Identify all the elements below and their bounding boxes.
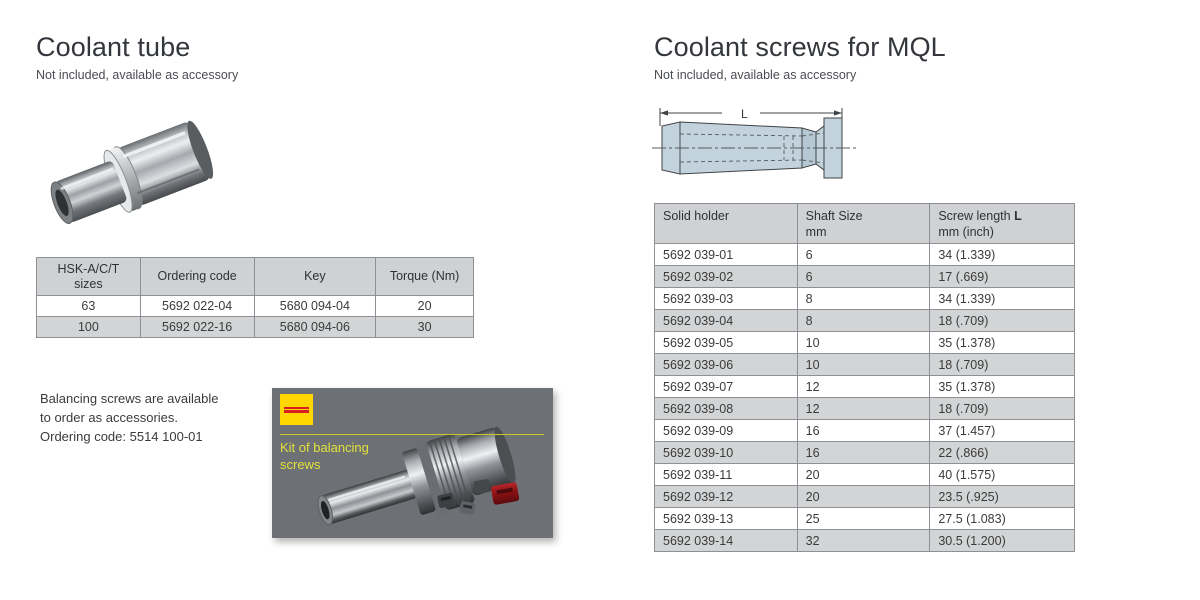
cell-shaft-size: 6 — [797, 266, 930, 288]
promo-caption: Kit of balancing screws — [280, 439, 460, 473]
cell-shaft-size: 32 — [797, 530, 930, 552]
table-row: 5692 039-081218 (.709) — [655, 398, 1075, 420]
cell-solid-holder: 5692 039-10 — [655, 442, 798, 464]
cell-solid-holder: 5692 039-05 — [655, 332, 798, 354]
screw-length-label: Screw length — [938, 209, 1014, 223]
cell-torque: 30 — [376, 317, 474, 338]
col-header-ordering-code: Ordering code — [140, 258, 254, 296]
coolant-screws-subtitle: Not included, available as accessory — [654, 68, 856, 82]
cell-key: 5680 094-04 — [254, 296, 376, 317]
cell-torque: 20 — [376, 296, 474, 317]
table-row: 5692 039-112040 (1.575) — [655, 464, 1075, 486]
cell-shaft-size: 8 — [797, 288, 930, 310]
col-header-solid-holder: Solid holder — [655, 204, 798, 244]
cell-key: 5680 094-06 — [254, 317, 376, 338]
cell-shaft-size: 16 — [797, 442, 930, 464]
coolant-tube-render — [32, 108, 238, 248]
cell-ordering-code: 5692 022-16 — [140, 317, 254, 338]
col-header-hsk-sizes: HSK-A/C/T sizes — [37, 258, 141, 296]
cell-shaft-size: 8 — [797, 310, 930, 332]
cell-screw-length: 34 (1.339) — [930, 244, 1075, 266]
table-row: 63 5692 022-04 5680 094-04 20 — [37, 296, 474, 317]
cell-solid-holder: 5692 039-12 — [655, 486, 798, 508]
cell-solid-holder: 5692 039-01 — [655, 244, 798, 266]
col-header-torque: Torque (Nm) — [376, 258, 474, 296]
coolant-screws-title: Coolant screws for MQL — [654, 32, 946, 63]
cell-screw-length: 18 (.709) — [930, 398, 1075, 420]
cell-solid-holder: 5692 039-06 — [655, 354, 798, 376]
cell-screw-length: 17 (.669) — [930, 266, 1075, 288]
table-row: 5692 039-071235 (1.378) — [655, 376, 1075, 398]
cell-screw-length: 18 (.709) — [930, 310, 1075, 332]
cell-shaft-size: 12 — [797, 398, 930, 420]
table-header-row: HSK-A/C/T sizes Ordering code Key Torque… — [37, 258, 474, 296]
cell-screw-length: 22 (.866) — [930, 442, 1075, 464]
cell-solid-holder: 5692 039-03 — [655, 288, 798, 310]
cell-solid-holder: 5692 039-08 — [655, 398, 798, 420]
note-line-3: Ordering code: 5514 100-01 — [40, 427, 262, 446]
promo-caption-line-1: Kit of balancing — [280, 439, 460, 456]
coolant-screws-table: Solid holder Shaft Size mm Screw length … — [654, 203, 1075, 552]
cell-solid-holder: 5692 039-07 — [655, 376, 798, 398]
cell-screw-length: 37 (1.457) — [930, 420, 1075, 442]
cell-shaft-size: 16 — [797, 420, 930, 442]
table-row: 5692 039-03834 (1.339) — [655, 288, 1075, 310]
table-header-row: Solid holder Shaft Size mm Screw length … — [655, 204, 1075, 244]
balancing-screws-note: Balancing screws are available to order … — [40, 389, 262, 446]
cell-screw-length: 23.5 (.925) — [930, 486, 1075, 508]
col-header-shaft-size: Shaft Size mm — [797, 204, 930, 244]
cell-ordering-code: 5692 022-04 — [140, 296, 254, 317]
logo-bar — [284, 407, 309, 413]
screw-table-body: 5692 039-01634 (1.339)5692 039-02617 (.6… — [655, 244, 1075, 552]
table-row: 5692 039-132527.5 (1.083) — [655, 508, 1075, 530]
table-row: 5692 039-051035 (1.378) — [655, 332, 1075, 354]
cell-shaft-size: 10 — [797, 332, 930, 354]
sandvik-coromant-logo — [280, 394, 313, 425]
col-header-screw-length: Screw length L mm (inch) — [930, 204, 1075, 244]
coolant-tube-table: HSK-A/C/T sizes Ordering code Key Torque… — [36, 257, 474, 338]
document-page: Coolant tube Not included, available as … — [0, 0, 1200, 600]
cell-solid-holder: 5692 039-13 — [655, 508, 798, 530]
balancing-screws-promo-card[interactable]: Kit of balancing screws — [272, 388, 553, 538]
cell-solid-holder: 5692 039-14 — [655, 530, 798, 552]
cell-screw-length: 27.5 (1.083) — [930, 508, 1075, 530]
table-row: 100 5692 022-16 5680 094-06 30 — [37, 317, 474, 338]
table-row: 5692 039-061018 (.709) — [655, 354, 1075, 376]
promo-divider — [280, 434, 544, 435]
table-row: 5692 039-143230.5 (1.200) — [655, 530, 1075, 552]
dimension-label-L: L — [741, 107, 748, 121]
cell-shaft-size: 20 — [797, 464, 930, 486]
table-row: 5692 039-122023.5 (.925) — [655, 486, 1075, 508]
cell-screw-length: 18 (.709) — [930, 354, 1075, 376]
cell-shaft-size: 12 — [797, 376, 930, 398]
cell-solid-holder: 5692 039-09 — [655, 420, 798, 442]
table-row: 5692 039-04818 (.709) — [655, 310, 1075, 332]
coolant-tube-title: Coolant tube — [36, 32, 190, 63]
cell-shaft-size: 20 — [797, 486, 930, 508]
screw-length-symbol: L — [1014, 209, 1022, 223]
cell-screw-length: 35 (1.378) — [930, 376, 1075, 398]
table-row: 5692 039-091637 (1.457) — [655, 420, 1075, 442]
cell-screw-length: 40 (1.575) — [930, 464, 1075, 486]
cell-screw-length: 34 (1.339) — [930, 288, 1075, 310]
coolant-tube-subtitle: Not included, available as accessory — [36, 68, 238, 82]
cell-shaft-size: 10 — [797, 354, 930, 376]
table-row: 5692 039-101622 (.866) — [655, 442, 1075, 464]
cell-hsk-size: 100 — [37, 317, 141, 338]
note-line-2: to order as accessories. — [40, 408, 262, 427]
cell-screw-length: 30.5 (1.200) — [930, 530, 1075, 552]
table-row: 5692 039-02617 (.669) — [655, 266, 1075, 288]
cell-hsk-size: 63 — [37, 296, 141, 317]
cell-shaft-size: 25 — [797, 508, 930, 530]
promo-caption-line-2: screws — [280, 456, 460, 473]
coolant-screw-drawing: L — [652, 100, 888, 196]
col-header-key: Key — [254, 258, 376, 296]
cell-solid-holder: 5692 039-02 — [655, 266, 798, 288]
cell-screw-length: 35 (1.378) — [930, 332, 1075, 354]
table-row: 5692 039-01634 (1.339) — [655, 244, 1075, 266]
cell-shaft-size: 6 — [797, 244, 930, 266]
cell-solid-holder: 5692 039-11 — [655, 464, 798, 486]
cell-solid-holder: 5692 039-04 — [655, 310, 798, 332]
note-line-1: Balancing screws are available — [40, 389, 262, 408]
